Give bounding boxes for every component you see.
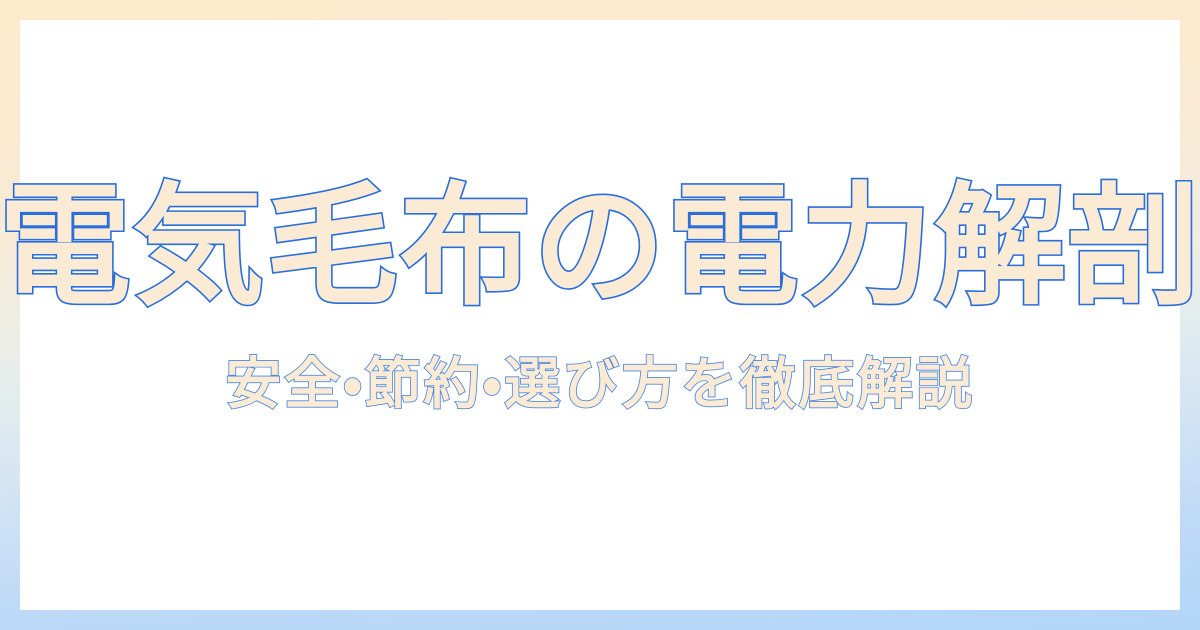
headline-block: 電気毛布の電力解剖 安全・節約・選び方を徹底解説 [20,178,1180,416]
page-subtitle: 安全・節約・選び方を徹底解説 [225,318,974,416]
ogp-canvas: 電気毛布の電力解剖 安全・節約・選び方を徹底解説 [0,0,1200,630]
page-title: 電気毛布の電力解剖 [0,178,1200,318]
inner-white-card: 電気毛布の電力解剖 安全・節約・選び方を徹底解説 [20,20,1180,610]
